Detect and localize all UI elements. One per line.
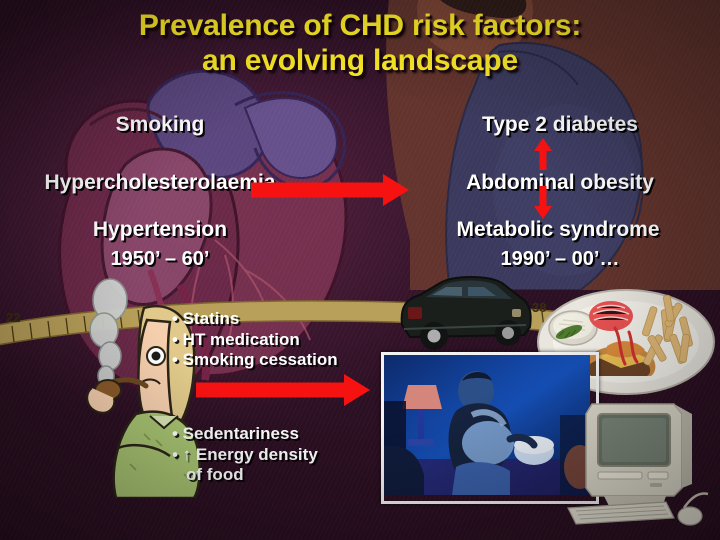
slide-canvas: 22 38 xyxy=(0,0,720,540)
slide-vignette xyxy=(0,0,720,540)
